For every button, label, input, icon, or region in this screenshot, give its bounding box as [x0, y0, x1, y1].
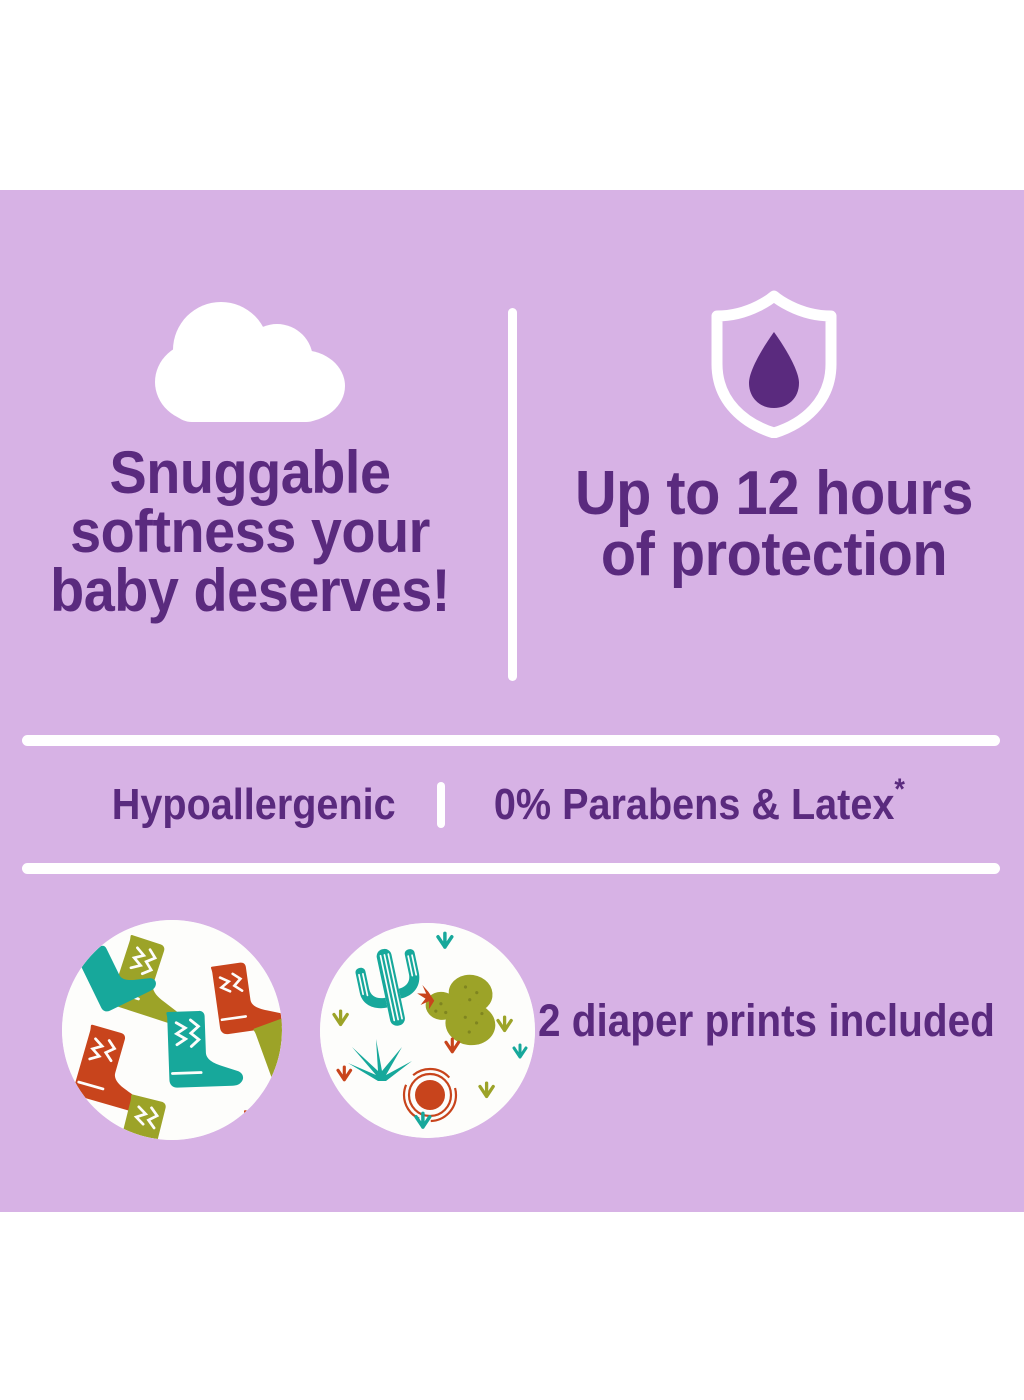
claims-strip: Hypoallergenic 0% Parabens & Latex*	[0, 746, 1024, 863]
product-feature-panel: Snuggable softness your baby deserves! U…	[0, 0, 1024, 1400]
protection-headline-pre: Up to	[575, 459, 736, 528]
prints-label-text: diaper prints included	[561, 995, 995, 1046]
prints-row: 2 diaper prints included	[0, 890, 1024, 1212]
footnote-asterisk: *	[895, 773, 906, 806]
claim-zero-percent: 0%	[494, 780, 551, 829]
divider-rule-top	[22, 735, 1000, 746]
softness-headline: Snuggable softness your baby deserves!	[31, 444, 468, 620]
feature-top-row: Snuggable softness your baby deserves! U…	[0, 190, 1024, 735]
shield-droplet-icon	[707, 290, 841, 438]
feature-protection: Up to 12 hours of protection	[524, 190, 1024, 735]
lavender-background-panel: Snuggable softness your baby deserves! U…	[0, 190, 1024, 1212]
cloud-icon-puff-top-right	[241, 324, 313, 396]
claim-hypoallergenic: Hypoallergenic	[112, 783, 396, 827]
protection-headline: Up to 12 hours of protection	[551, 464, 997, 586]
prints-included-label: 2 diaper prints included	[538, 998, 995, 1043]
protection-headline-hours: 12	[735, 459, 799, 528]
claims-separator	[437, 782, 445, 828]
feature-softness: Snuggable softness your baby deserves!	[0, 190, 500, 735]
desert-cactus-print-swatch[interactable]	[320, 923, 535, 1138]
claim-parabens-text: Parabens & Latex	[551, 780, 894, 829]
divider-rule-bottom	[22, 863, 1000, 874]
cowboy-boots-print-swatch[interactable]	[62, 920, 282, 1140]
vertical-divider	[508, 308, 517, 681]
prints-count: 2	[538, 995, 561, 1046]
claim-parabens-latex: 0% Parabens & Latex*	[494, 783, 905, 827]
cloud-icon	[155, 302, 345, 422]
